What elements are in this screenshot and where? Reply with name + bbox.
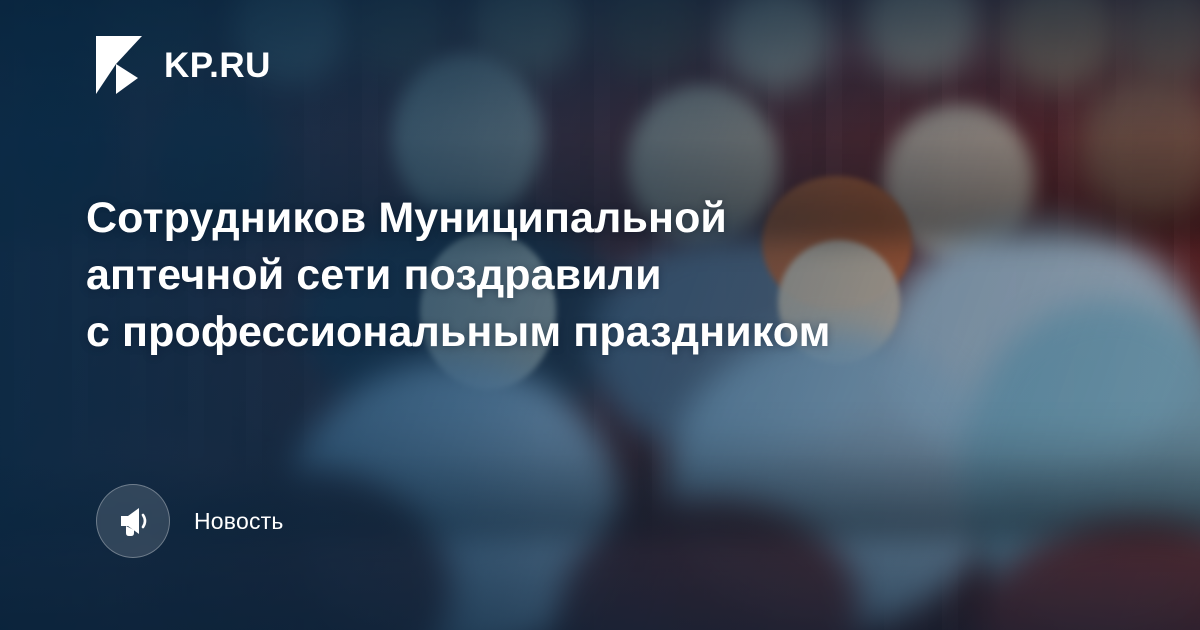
category-tag-label: Новость xyxy=(194,508,284,535)
brand-logo[interactable]: KP.RU xyxy=(86,34,271,96)
content-overlay: KP.RU Сотрудников Муниципальной аптечной… xyxy=(0,0,1200,630)
page-title: Сотрудников Муниципальной аптечной сети … xyxy=(86,190,1096,360)
brand-wordmark: KP.RU xyxy=(164,48,271,83)
headline-line-1: Сотрудников Муниципальной xyxy=(86,190,1096,247)
category-tag[interactable]: Новость xyxy=(96,484,284,558)
megaphone-icon xyxy=(96,484,170,558)
social-share-card: KP.RU Сотрудников Муниципальной аптечной… xyxy=(0,0,1200,630)
headline-line-3: с профессиональным праздником xyxy=(86,304,1096,361)
kp-bird-icon xyxy=(86,34,146,96)
headline-line-2: аптечной сети поздравили xyxy=(86,247,1096,304)
